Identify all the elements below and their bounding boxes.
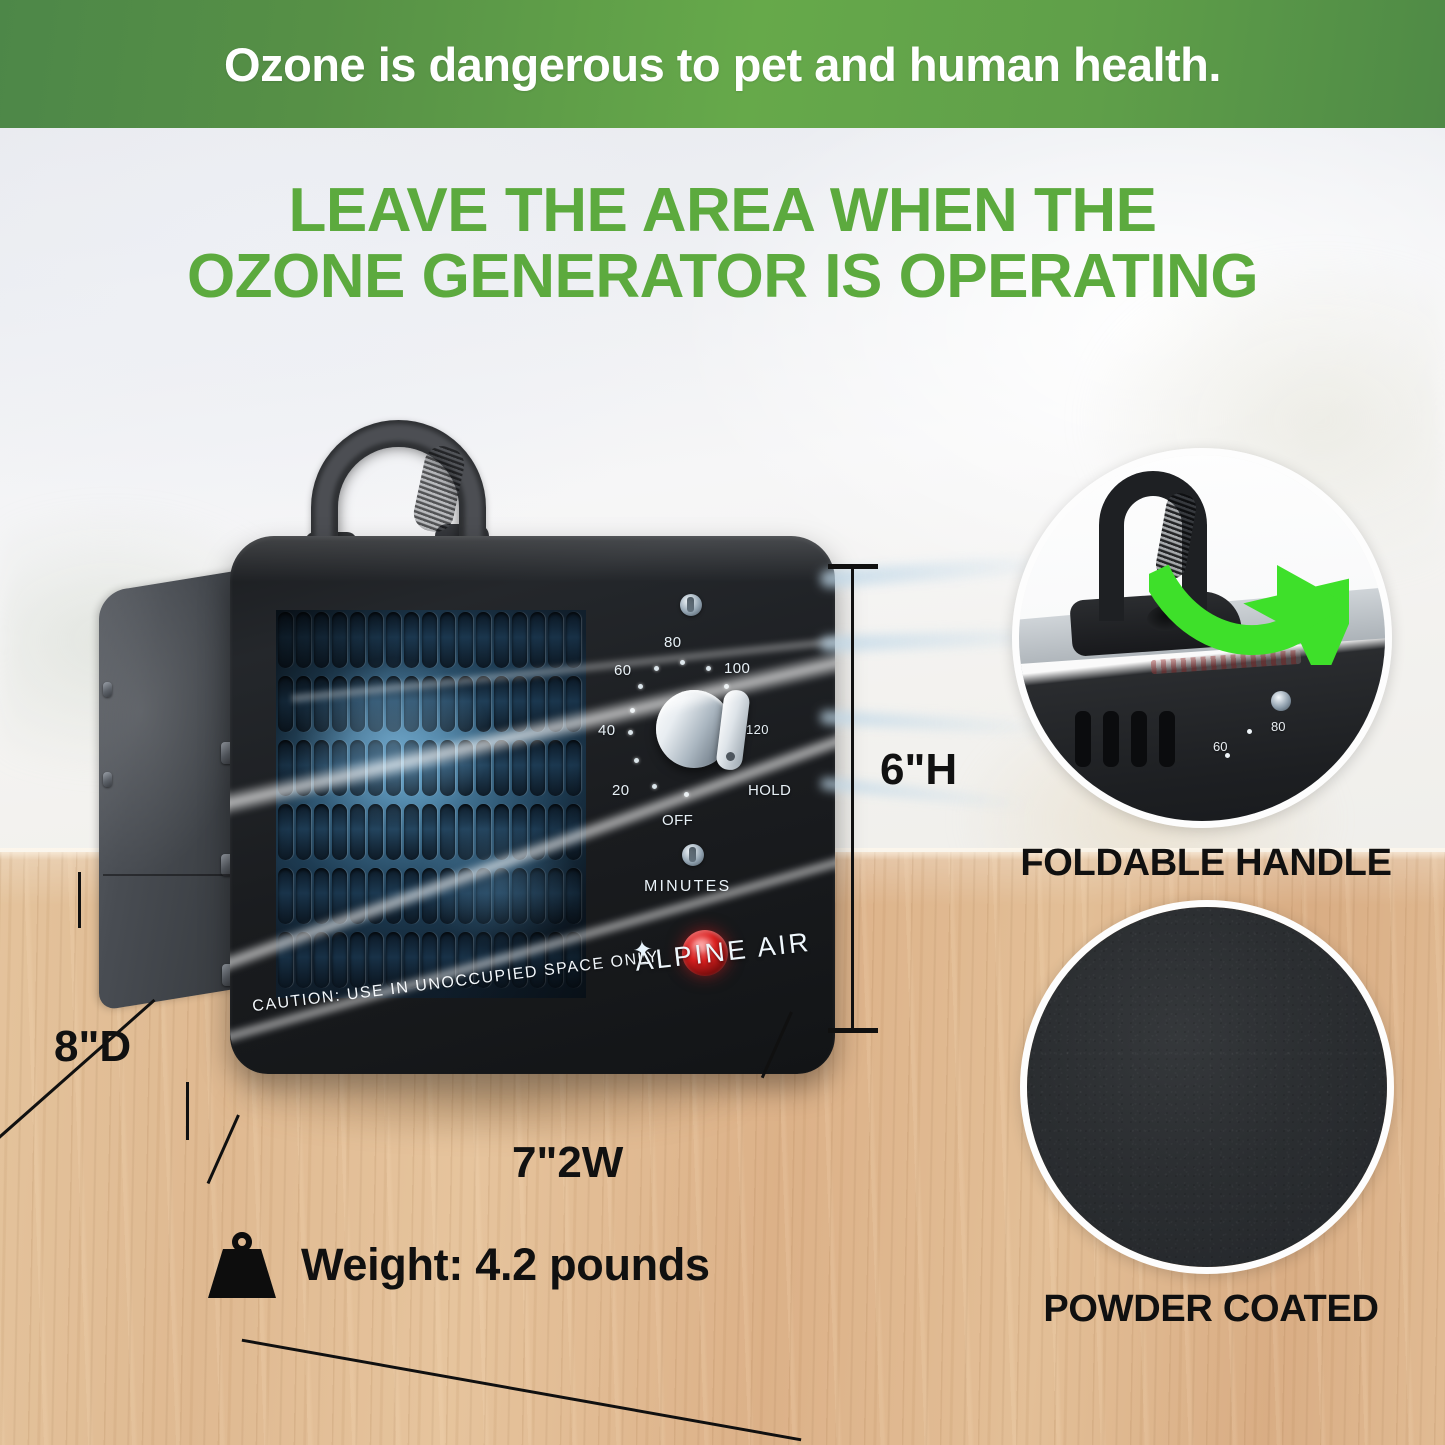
vent-slot	[1131, 711, 1147, 767]
grille-slot	[278, 740, 293, 796]
grille-slot	[422, 676, 437, 732]
grille-slot	[566, 612, 581, 668]
grille-slot	[422, 740, 437, 796]
grille-slot	[458, 804, 473, 860]
grille-slot	[332, 868, 347, 924]
grille-slot	[404, 612, 419, 668]
foldable-handle-photo: 80 60	[1012, 448, 1392, 828]
grille-slot	[494, 612, 509, 668]
weight-label: Weight: 4.2 pounds	[301, 1239, 710, 1291]
fold-direction-arrow-icon	[1149, 547, 1349, 665]
grille-slot	[404, 740, 419, 796]
grille-slot	[314, 804, 329, 860]
foldable-handle-icon	[311, 420, 486, 545]
dial-tick-dot	[684, 792, 689, 797]
ozone-generator-product: 80 60 100 40 120 20 OFF HOLD	[95, 420, 835, 1130]
grille-slot	[566, 740, 581, 796]
height-dimension-cap-top	[828, 564, 878, 569]
grille-slot	[296, 804, 311, 860]
grille-slot	[530, 612, 545, 668]
dial-tick-dot	[654, 666, 659, 671]
grille-slot	[386, 676, 401, 732]
power-symbol-icon	[680, 594, 702, 616]
grille-slot	[422, 612, 437, 668]
mini-power-symbol-icon	[1271, 691, 1291, 711]
weight-spec: Weight: 4.2 pounds	[205, 1232, 710, 1298]
dial-tick-label-120: 120	[746, 722, 769, 737]
depth-dimension-label: 8"D	[54, 1022, 131, 1072]
grille-slot	[332, 804, 347, 860]
grille-slot	[440, 740, 455, 796]
grille-slot	[386, 804, 401, 860]
grille-slot	[512, 612, 527, 668]
grille-slot	[530, 740, 545, 796]
ventilation-grille	[276, 610, 586, 998]
grille-slot	[548, 804, 563, 860]
grille-slot	[314, 932, 329, 988]
grille-slot	[296, 932, 311, 988]
grille-slot	[476, 612, 491, 668]
depth-dimension-cap-bottom	[186, 1082, 189, 1140]
width-dimension-label: 7"2W	[512, 1138, 623, 1188]
rear-screw-bottom	[103, 772, 112, 787]
vent-slot	[1159, 711, 1175, 767]
grille-slot	[440, 676, 455, 732]
grille-slot	[368, 868, 383, 924]
powder-coat-texture	[1027, 907, 1387, 1267]
grille-slot	[404, 868, 419, 924]
grille-slot	[314, 676, 329, 732]
rear-screw-top	[103, 682, 112, 697]
grille-slot	[350, 868, 365, 924]
dial-tick-dot	[724, 684, 729, 689]
grille-slot	[368, 612, 383, 668]
grille-slot	[494, 676, 509, 732]
grille-slot	[278, 804, 293, 860]
grille-slot	[422, 804, 437, 860]
grille-slot	[278, 676, 293, 732]
grille-slot	[476, 868, 491, 924]
grille-slot	[350, 676, 365, 732]
handle-photo-mini-dial: 80 60	[1209, 691, 1359, 791]
grille-row	[276, 802, 586, 866]
timer-symbol-icon	[682, 844, 704, 866]
timer-dial-pointer-dot	[726, 752, 735, 761]
grille-slot	[368, 676, 383, 732]
grille-slot	[476, 804, 491, 860]
grille-slot	[512, 804, 527, 860]
grille-slot	[458, 868, 473, 924]
grille-slot	[548, 868, 563, 924]
grille-slot	[296, 868, 311, 924]
grille-slot	[332, 932, 347, 988]
grille-slot	[350, 932, 365, 988]
powder-coated-swatch	[1020, 900, 1394, 1274]
grille-slot	[548, 740, 563, 796]
grille-slot	[332, 676, 347, 732]
grille-slot	[278, 612, 293, 668]
grille-slot	[548, 676, 563, 732]
dial-tick-dot	[634, 758, 639, 763]
grille-slot	[296, 612, 311, 668]
grille-slot	[440, 868, 455, 924]
mini-dial-tick-dot	[1225, 753, 1230, 758]
weight-icon-block	[208, 1249, 276, 1298]
minutes-label: MINUTES	[644, 878, 731, 896]
grille-slot	[350, 804, 365, 860]
grille-slot	[278, 932, 293, 988]
vent-slot	[1075, 711, 1091, 767]
grille-slot	[404, 804, 419, 860]
grille-row	[276, 674, 586, 738]
grille-slot	[512, 868, 527, 924]
grille-slot	[440, 612, 455, 668]
grille-slot	[512, 740, 527, 796]
grille-slot	[404, 676, 419, 732]
device-body: 80 60 100 40 120 20 OFF HOLD	[95, 536, 835, 1096]
grille-slot	[476, 740, 491, 796]
dial-tick-label-80: 80	[664, 634, 682, 651]
grille-slot	[530, 804, 545, 860]
device-front-panel: 80 60 100 40 120 20 OFF HOLD	[230, 536, 835, 1074]
feature-powder-coated: POWDER COATED	[1020, 900, 1402, 1274]
dial-tick-label-100: 100	[724, 660, 750, 677]
grille-slot	[314, 612, 329, 668]
grille-slot	[332, 612, 347, 668]
grille-slot	[458, 740, 473, 796]
grille-slot	[332, 740, 347, 796]
infographic-canvas: Ozone is dangerous to pet and human heal…	[0, 0, 1445, 1445]
dial-tick-label-40: 40	[598, 722, 616, 739]
grille-slot	[530, 868, 545, 924]
grille-slot	[440, 804, 455, 860]
grille-slot	[368, 740, 383, 796]
grille-slot	[296, 676, 311, 732]
grille-row	[276, 738, 586, 802]
grille-slot	[314, 868, 329, 924]
mini-dial-tick-60: 60	[1213, 739, 1227, 754]
foldable-handle-caption: FOLDABLE HANDLE	[1012, 842, 1400, 885]
grille-slot	[566, 676, 581, 732]
dial-tick-dot	[652, 784, 657, 789]
grille-row	[276, 610, 586, 674]
arrow-svg	[1149, 547, 1349, 665]
front-panel-top-highlight	[230, 536, 835, 582]
headline-line-1: LEAVE THE AREA WHEN THE	[0, 178, 1445, 244]
weight-icon	[205, 1232, 279, 1298]
height-dimension-label: 6"H	[880, 745, 957, 795]
grille-slot	[458, 676, 473, 732]
dial-tick-label-60: 60	[614, 662, 632, 679]
warning-banner-text: Ozone is dangerous to pet and human heal…	[224, 37, 1221, 92]
grille-slot	[494, 868, 509, 924]
dial-label-off: OFF	[662, 812, 693, 829]
grille-slot	[386, 740, 401, 796]
height-dimension-cap-bottom	[828, 1028, 878, 1033]
grille-slot	[314, 740, 329, 796]
dial-tick-dot	[638, 684, 643, 689]
grille-slot	[458, 612, 473, 668]
grille-slot	[494, 740, 509, 796]
grille-slot	[350, 740, 365, 796]
mini-dial-tick-dot	[1247, 729, 1252, 734]
grille-slot	[368, 932, 383, 988]
grille-slot-grid	[276, 610, 586, 998]
grille-slot	[530, 676, 545, 732]
dial-label-hold: HOLD	[748, 782, 791, 799]
grille-slot	[512, 676, 527, 732]
handle-photo-vents	[1075, 711, 1215, 767]
grille-slot	[548, 612, 563, 668]
grille-slot	[368, 804, 383, 860]
depth-dimension-cap-top	[78, 872, 81, 928]
page-title: LEAVE THE AREA WHEN THE OZONE GENERATOR …	[0, 178, 1445, 311]
grille-slot	[386, 612, 401, 668]
grille-slot	[566, 868, 581, 924]
warning-banner: Ozone is dangerous to pet and human heal…	[0, 0, 1445, 128]
headline-line-2: OZONE GENERATOR IS OPERATING	[0, 244, 1445, 310]
dial-tick-label-20: 20	[612, 782, 630, 799]
powder-coated-caption: POWDER COATED	[1020, 1288, 1402, 1331]
height-dimension-line	[851, 566, 854, 1032]
mini-dial-tick-80: 80	[1271, 719, 1285, 734]
grille-slot	[476, 676, 491, 732]
grille-slot	[566, 804, 581, 860]
dial-tick-dot	[706, 666, 711, 671]
grille-slot	[386, 868, 401, 924]
feature-foldable-handle: 80 60 FOLDABLE HANDLE	[1012, 448, 1400, 828]
dial-tick-dot	[630, 708, 635, 713]
grille-slot	[296, 740, 311, 796]
grille-slot	[278, 868, 293, 924]
dial-tick-dot	[628, 730, 633, 735]
grille-slot	[350, 612, 365, 668]
grille-slot	[422, 868, 437, 924]
vent-slot	[1103, 711, 1119, 767]
grille-slot	[494, 804, 509, 860]
grille-row	[276, 866, 586, 930]
dial-tick-dot	[680, 660, 685, 665]
